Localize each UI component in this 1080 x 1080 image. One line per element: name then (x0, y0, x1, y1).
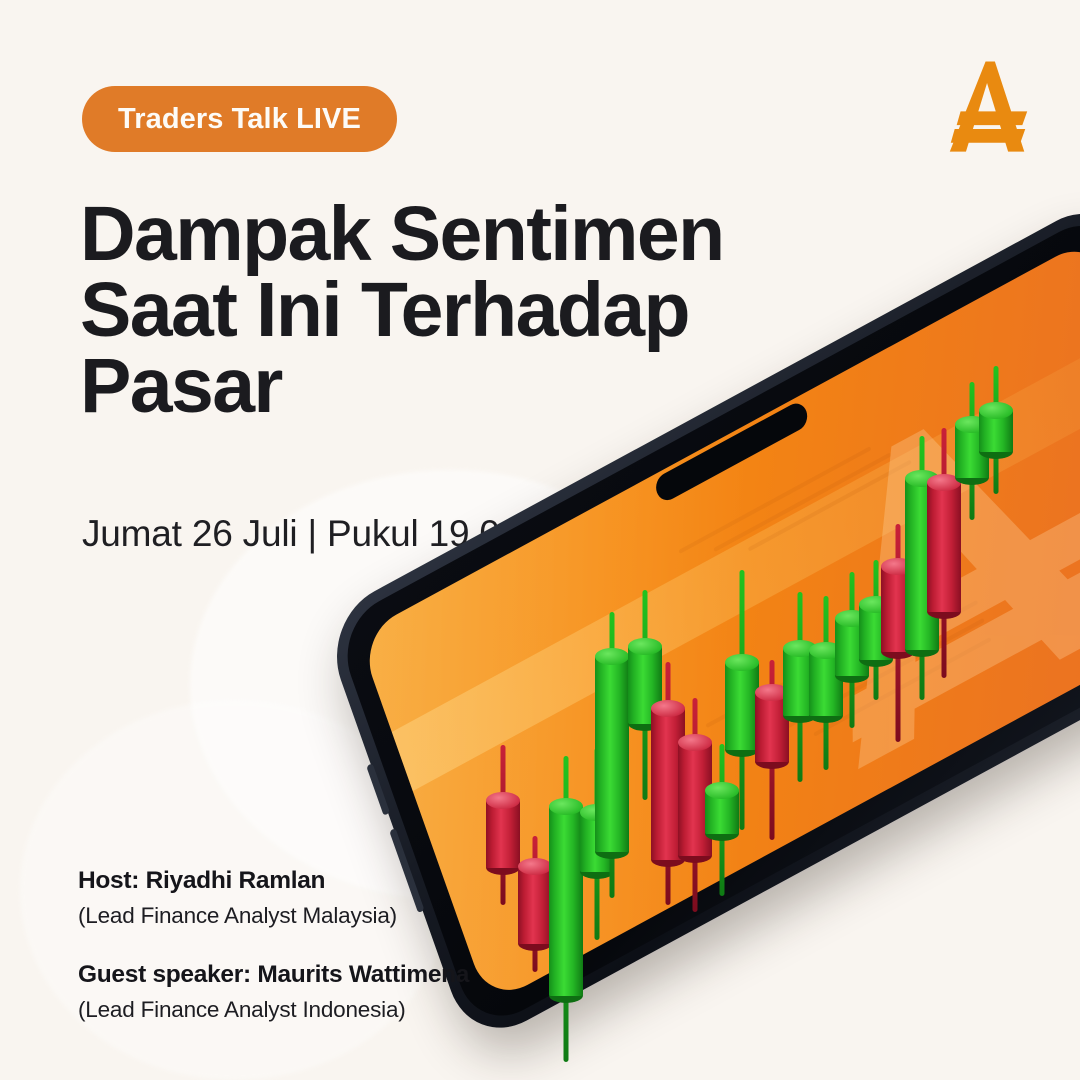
candlestick-up (725, 570, 759, 830)
candle-body (725, 662, 759, 750)
speaker-name: Guest speaker: Maurits Wattimena (78, 960, 548, 991)
candle-body (595, 656, 629, 852)
candle-body-top (549, 798, 583, 815)
candlestick-up (979, 366, 1013, 494)
candle-body (979, 410, 1013, 452)
candle-body-side (549, 806, 583, 996)
candlestick-up (549, 756, 583, 1062)
speaker-name: Host: Riyadhi Ramlan (78, 866, 548, 897)
candle-body-top (628, 638, 662, 655)
candle-body-top (595, 648, 629, 665)
candle-body-top (725, 654, 759, 671)
candle-body-side (486, 800, 520, 868)
candle-body (486, 800, 520, 868)
speaker-item: Guest speaker: Maurits Wattimena(Lead Fi… (78, 960, 548, 1024)
speaker-list: Host: Riyadhi Ramlan(Lead Finance Analys… (78, 866, 548, 1024)
speaker-item: Host: Riyadhi Ramlan(Lead Finance Analys… (78, 866, 548, 930)
candlestick-up (595, 612, 629, 898)
speaker-role: (Lead Finance Analyst Malaysia) (78, 901, 548, 930)
candle-body-top (979, 402, 1013, 419)
candle-body (549, 806, 583, 996)
candle-body-top (486, 792, 520, 809)
candle-body-side (725, 662, 759, 750)
poster-canvas: Traders Talk LIVE Dampak Sentimen Saat I… (0, 0, 1080, 1080)
candle-body-side (595, 656, 629, 852)
speaker-role: (Lead Finance Analyst Indonesia) (78, 995, 548, 1024)
